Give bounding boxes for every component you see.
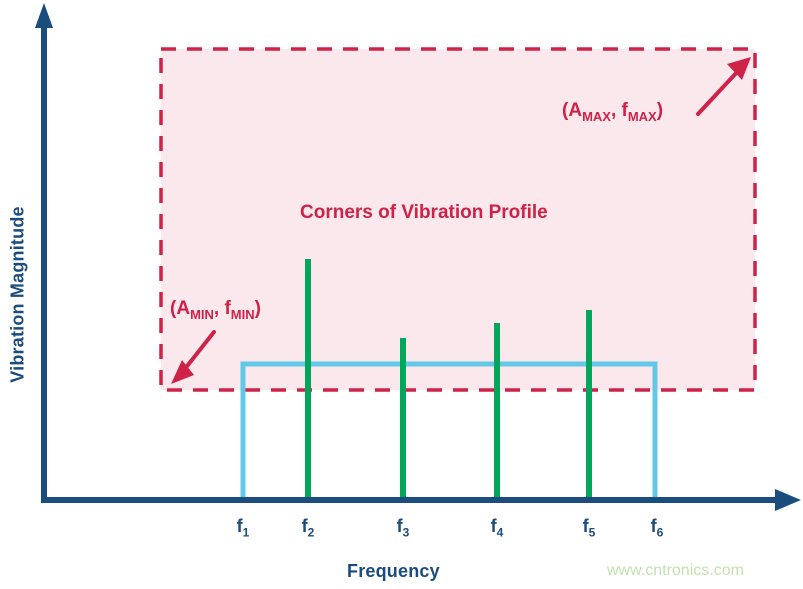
x-tick-label-f1: f1 <box>237 516 250 540</box>
min-corner-mid: , f <box>214 298 231 319</box>
region-title: Corners of Vibration Profile <box>300 202 548 224</box>
min-corner-prefix: (A <box>170 298 190 319</box>
x-axis-title: Frequency <box>347 561 440 582</box>
x-tick-label-f2: f2 <box>302 516 315 540</box>
x-tick-label-f5: f5 <box>583 516 596 540</box>
x-tick-sub-1: 1 <box>243 526 250 540</box>
max-corner-label: (AMAX, fMAX) <box>562 100 663 124</box>
tonal-bar-f5 <box>586 310 592 500</box>
x-tick-sub-5: 5 <box>589 526 596 540</box>
x-tick-label-f6: f6 <box>651 516 664 540</box>
x-tick-sub-6: 6 <box>657 526 664 540</box>
min-corner-suffix: ) <box>255 298 261 319</box>
x-tick-sub-3: 3 <box>403 526 410 540</box>
y-axis-arrowhead <box>35 3 53 28</box>
max-corner-sub-a: MAX <box>582 109 611 124</box>
tonal-bar-f3 <box>400 338 406 500</box>
y-axis-title: Vibration Magnitude <box>0 0 36 589</box>
vibration-profile-diagram: Vibration Magnitude Frequency f1 f2 f3 f… <box>0 0 803 589</box>
y-axis-title-text: Vibration Magnitude <box>8 206 29 382</box>
min-corner-sub-a: MIN <box>190 307 214 322</box>
max-corner-sub-f: MAX <box>628 109 657 124</box>
diagram-canvas <box>0 0 803 589</box>
tonal-bar-f4 <box>494 323 500 500</box>
x-tick-label-f3: f3 <box>397 516 410 540</box>
max-corner-suffix: ) <box>657 100 663 121</box>
min-corner-label: (AMIN, fMIN) <box>170 298 261 322</box>
x-tick-sub-2: 2 <box>308 526 315 540</box>
max-corner-prefix: (A <box>562 100 582 121</box>
x-axis-arrowhead <box>775 489 801 511</box>
x-tick-sub-4: 4 <box>497 526 504 540</box>
x-tick-label-f4: f4 <box>491 516 504 540</box>
tonal-bar-f2 <box>305 259 311 500</box>
max-corner-mid: , f <box>611 100 628 121</box>
min-corner-sub-f: MIN <box>231 307 255 322</box>
watermark: www.cntronics.com <box>607 562 744 580</box>
